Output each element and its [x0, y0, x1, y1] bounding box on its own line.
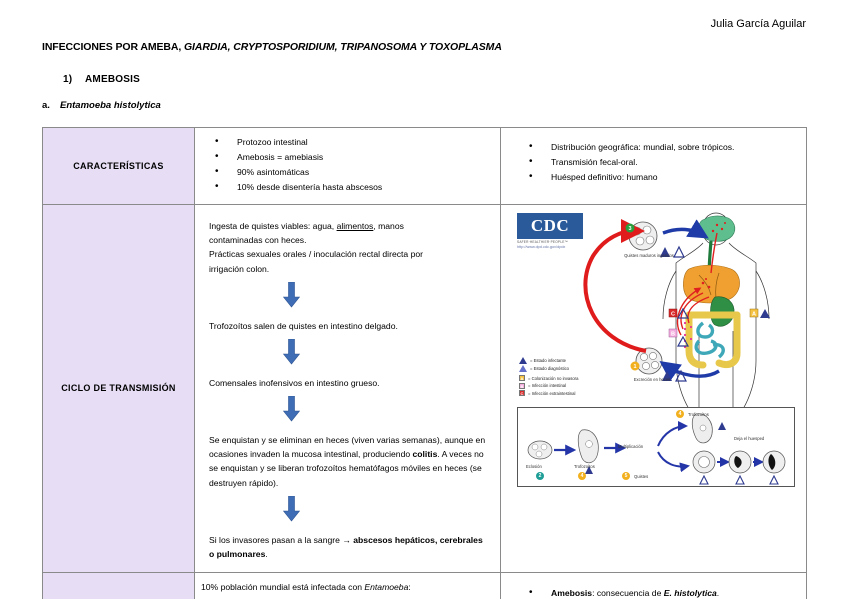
square-a-icon: A [519, 375, 525, 381]
svg-text:1: 1 [633, 364, 636, 370]
inset-step-4: 4 [578, 472, 586, 480]
ciclo-step-2: Trofozoítos salen de quistes en intestin… [209, 319, 488, 333]
epi-intro-part-a: 10% población mundial está infectada con [201, 582, 364, 592]
down-arrow-icon [283, 339, 300, 365]
author-name: Julia García Aguilar [711, 18, 806, 30]
ciclo-step1-line4: irrigación colon. [209, 264, 269, 274]
legend-row-intestinal: B = Infección intestinal [519, 383, 578, 389]
section-heading-amebosis: 1)AMEBOSIS [63, 74, 140, 85]
inset-label-trofozoitos: Trofozoítos [574, 464, 595, 469]
ciclo-step-5: Si los invasores pasan a la sangre → abs… [209, 533, 488, 562]
legend-row-diagnostico: = Estado diagnóstico [519, 365, 578, 372]
table-row-caracteristicas: CARACTERÍSTICAS Protozoo intestinal Ameb… [43, 128, 807, 205]
legend-row-extraintestinal: C = Infección extraintestinal [519, 390, 578, 396]
triangle-open-icon [519, 365, 527, 372]
section-number: 1) [63, 74, 85, 85]
down-arrow-1-wrap [209, 282, 488, 312]
document-title: INFECCIONES POR AMEBA, GIARDIA, CRYPTOSP… [42, 41, 502, 53]
square-b-icon: B [519, 383, 525, 389]
cdc-lifecycle-diagram: CDC SAFER·HEALTHIER·PEOPLE™ http://www.d… [513, 211, 801, 493]
ciclo-step5-part-c: . [265, 549, 267, 559]
ciclo-diagram-cell: CDC SAFER·HEALTHIER·PEOPLE™ http://www.d… [501, 204, 807, 572]
section-title: AMEBOSIS [85, 74, 140, 85]
epi-rb-part-b: : consecuencia de [592, 588, 664, 598]
document-title-plain: INFECCIONES POR AMEBA, [42, 41, 181, 53]
down-arrow-icon [283, 282, 300, 308]
epi-intro-entamoeba: Entamoeba [364, 582, 408, 592]
row-label-epidemiologia: EPIDEMIOLOGÍA [43, 572, 195, 599]
ciclo-step-1: Ingesta de quistes viables: agua, alimen… [209, 219, 488, 277]
ciclo-step1-line2: contaminadas con heces. [209, 235, 306, 245]
row-label-caracteristicas: CARACTERÍSTICAS [43, 128, 195, 205]
ciclo-text-cell: Ingesta de quistes viables: agua, alimen… [195, 204, 501, 572]
caracteristicas-right-cell: Distribución geográfica: mundial, sobre … [501, 128, 807, 205]
triangle-filled-icon [519, 357, 527, 364]
ciclo-step-3: Comensales inofensivos en intestino grue… [209, 376, 488, 390]
legend-row-colonizacion: A = Colonización no invasora [519, 375, 578, 381]
epi-rb-amebosis: Amebosis [551, 588, 592, 598]
inset-svg [518, 408, 794, 486]
excreted-cysts-cluster [636, 348, 662, 374]
inset-label-quistes: Quistes [634, 474, 648, 479]
label-excretion: Excreción en heces [617, 377, 687, 382]
list-item: Huésped definitivo: humano [551, 171, 796, 184]
ciclo-step1-alimentos: alimentos [337, 221, 374, 231]
label-ingested-cysts: Quistes maduros ingeridos [619, 253, 679, 258]
ciclo-step-4: Se enquistan y se eliminan en heces (viv… [209, 433, 488, 491]
epidemiologia-right-list: Amebosis: consecuencia de E. histolytica… [517, 587, 796, 599]
lifecycle-inset-panel: Eclosión Trofozoítos Multiplicación Trof… [517, 407, 795, 487]
list-item: Amebosis = amebiasis [237, 151, 490, 164]
table-row-ciclo-transmision: CICLO DE TRANSMISIÓN Ingesta de quistes … [43, 204, 807, 572]
down-arrow-3-wrap [209, 396, 488, 426]
down-arrow-icon [283, 396, 300, 422]
svg-text:C: C [671, 311, 675, 317]
epi-rb-species: E. histolytica [664, 588, 717, 598]
inset-label-multiplicacion: Multiplicación [618, 444, 643, 449]
epi-intro-part-c: : [408, 582, 410, 592]
list-item: Distribución geográfica: mundial, sobre … [551, 141, 796, 154]
ciclo-step1-part-c: , manos [373, 221, 404, 231]
inset-step-4b: 4 [676, 410, 684, 418]
legend-label: = Estado diagnóstico [530, 366, 569, 371]
epi-rb-part-d: . [717, 588, 719, 598]
legend-label: = Colonización no invasora [528, 376, 578, 381]
legend-label: = Infección extraintestinal [528, 391, 575, 396]
inset-step-2: 2 [536, 472, 544, 480]
subsection-number: a. [42, 100, 60, 111]
caracteristicas-left-list: Protozoo intestinal Amebosis = amebiasis… [203, 136, 490, 194]
subsection-title: Entamoeba histolytica [60, 100, 161, 111]
down-arrow-2-wrap [209, 339, 488, 369]
epidemiologia-intro: 10% población mundial está infectada con… [201, 581, 490, 595]
caracteristicas-left-cell: Protozoo intestinal Amebosis = amebiasis… [195, 128, 501, 205]
legend-label: = Estado infectante [530, 358, 566, 363]
ciclo-step4-colitis: colitis [413, 449, 438, 459]
list-item: Protozoo intestinal [237, 136, 490, 149]
document-title-italic: GIARDIA, CRYPTOSPORIDIUM, TRIPANOSOMA Y … [181, 41, 502, 53]
inset-label-deja-huesped: Deja el huesped [734, 436, 764, 441]
row-label-ciclo-transmision: CICLO DE TRANSMISIÓN [43, 204, 195, 572]
epidemiologia-right-cell: Amebosis: consecuencia de E. histolytica… [501, 572, 807, 599]
svg-text:A: A [752, 311, 756, 317]
subsection-heading-entamoeba: a.Entamoeba histolytica [42, 100, 161, 111]
diagram-legend: = Estado infectante = Estado diagnóstico… [519, 357, 578, 398]
ciclo-step1-line3: Prácticas sexuales orales / inoculación … [209, 249, 423, 259]
list-item: 10% desde disentería hasta abscesos [237, 181, 490, 194]
table-row-epidemiologia: EPIDEMIOLOGÍA 10% población mundial está… [43, 572, 807, 599]
inset-step-5: 5 [622, 472, 630, 480]
legend-row-infectante: = Estado infectante [519, 357, 578, 364]
down-arrow-icon [283, 496, 300, 522]
svg-text:3: 3 [628, 226, 631, 232]
list-item: Transmisión fecal-oral. [551, 156, 796, 169]
inset-label-trofozoitos-2: Trofozoítos [688, 412, 709, 417]
square-c-icon: C [519, 390, 525, 396]
list-item: 90% asintomáticas [237, 166, 490, 179]
ciclo-step5-part-a: Si los invasores pasan a la sangre → [209, 535, 353, 545]
document-page: Julia García Aguilar INFECCIONES POR AME… [0, 0, 848, 599]
inset-label-eclosion: Eclosión [526, 464, 542, 469]
legend-label: = Infección intestinal [528, 383, 566, 388]
ciclo-step1-part-a: Ingesta de quistes viables: agua, [209, 221, 337, 231]
infections-table: CARACTERÍSTICAS Protozoo intestinal Ameb… [42, 127, 807, 599]
svg-text:B: B [671, 331, 675, 337]
down-arrow-4-wrap [209, 496, 488, 526]
caracteristicas-right-list: Distribución geográfica: mundial, sobre … [517, 141, 796, 184]
epidemiologia-left-cell: 10% población mundial está infectada con… [195, 572, 501, 599]
list-item: Amebosis: consecuencia de E. histolytica… [551, 587, 796, 599]
